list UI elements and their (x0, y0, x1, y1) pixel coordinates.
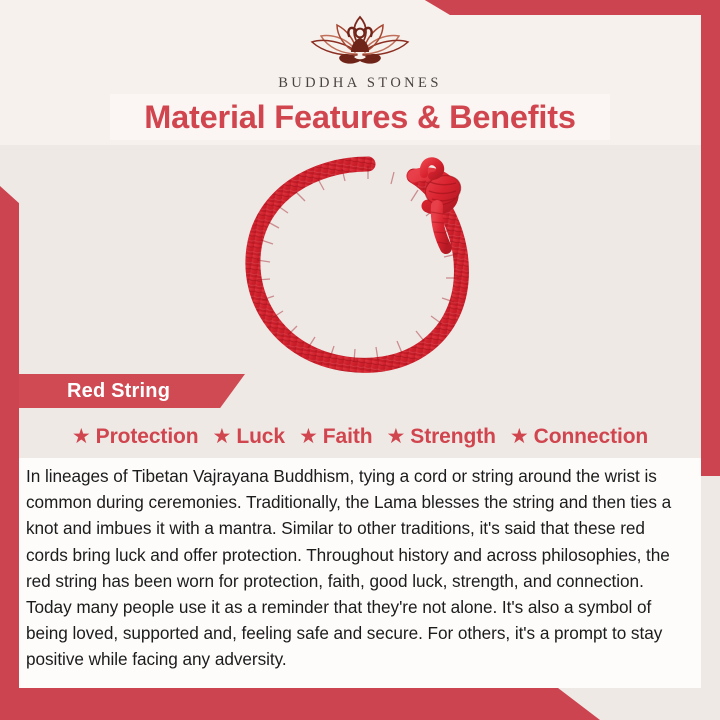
benefit-protection: ★ Protection (67, 425, 204, 449)
benefit-luck: ★ Luck (208, 425, 290, 449)
product-name-label: Red String (67, 380, 170, 403)
star-icon: ★ (213, 426, 232, 447)
brand-name: BUDDHA STONES (278, 75, 442, 92)
benefit-strength: ★ Strength (381, 425, 500, 449)
title-banner: Material Features & Benefits (110, 94, 610, 140)
benefit-label: Faith (323, 425, 373, 449)
red-string-bracelet-image (218, 150, 508, 380)
benefit-label: Connection (534, 425, 649, 449)
description-panel: In lineages of Tibetan Vajrayana Buddhis… (19, 458, 701, 688)
bottom-accent-band (0, 688, 600, 720)
product-name-ribbon: Red String (19, 374, 245, 408)
infographic-page: BUDDHA STONES Material Features & Benefi… (0, 0, 720, 720)
description-text: In lineages of Tibetan Vajrayana Buddhis… (26, 463, 687, 673)
benefit-label: Luck (236, 425, 285, 449)
benefit-connection: ★ Connection (505, 425, 653, 449)
benefit-label: Strength (410, 425, 496, 449)
star-icon: ★ (72, 426, 91, 447)
star-icon: ★ (299, 426, 318, 447)
benefit-faith: ★ Faith (294, 425, 378, 449)
star-icon: ★ (510, 426, 529, 447)
brand-logo: BUDDHA STONES (0, 14, 720, 92)
left-accent-band (0, 186, 19, 720)
page-title: Material Features & Benefits (144, 99, 575, 136)
top-accent-band (0, 0, 720, 15)
lotus-meditation-icon (299, 14, 421, 70)
benefit-label: Protection (96, 425, 199, 449)
benefits-row: ★ Protection ★ Luck ★ Faith ★ Strength ★… (19, 419, 701, 455)
star-icon: ★ (386, 426, 405, 447)
